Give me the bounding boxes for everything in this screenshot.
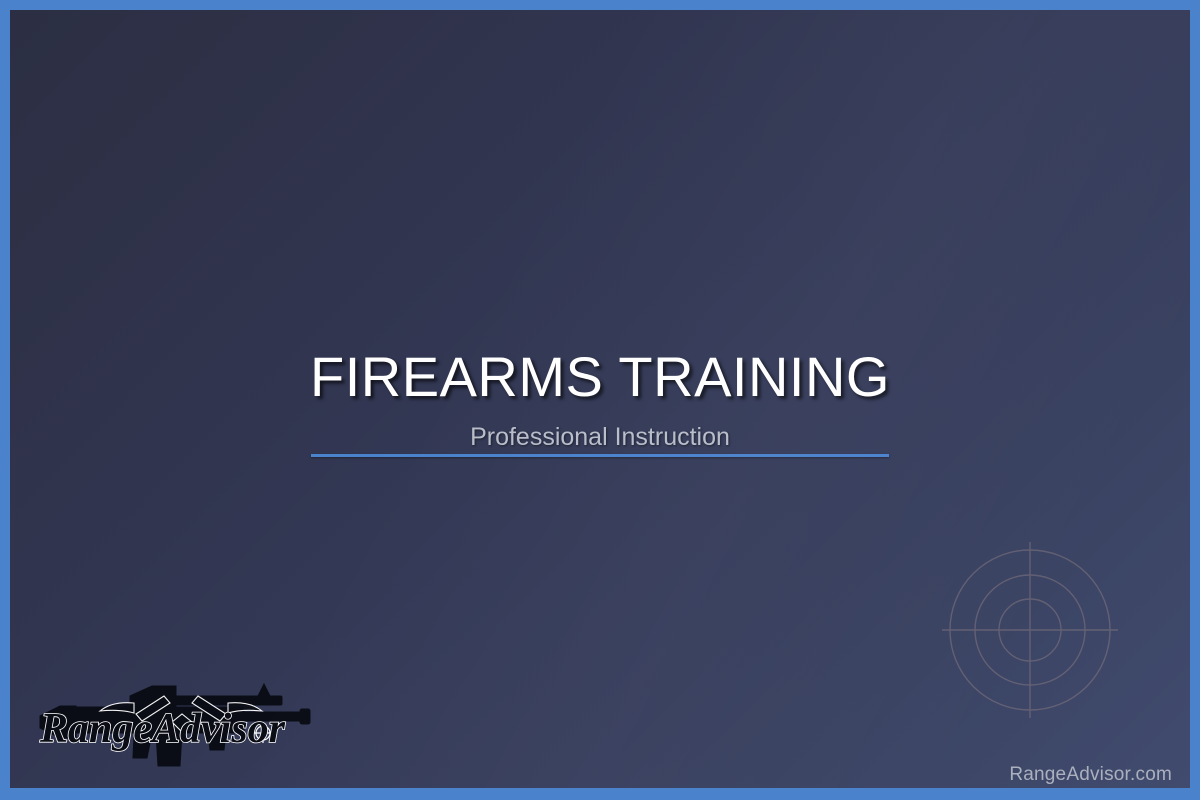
brand-logo: RangeAdvisor (30, 678, 322, 770)
title-divider (311, 454, 889, 457)
crosshair-target-icon (940, 540, 1120, 720)
title-block: FIREARMS TRAINING Professional Instructi… (10, 346, 1190, 452)
footer-website-url: RangeAdvisor.com (1009, 764, 1172, 786)
slide-canvas: FIREARMS TRAINING Professional Instructi… (10, 10, 1190, 788)
page-subtitle: Professional Instruction (10, 422, 1190, 452)
presentation-slide: FIREARMS TRAINING Professional Instructi… (0, 0, 1200, 800)
page-title: FIREARMS TRAINING (10, 346, 1190, 408)
brand-logo-text: RangeAdvisor (39, 706, 286, 752)
